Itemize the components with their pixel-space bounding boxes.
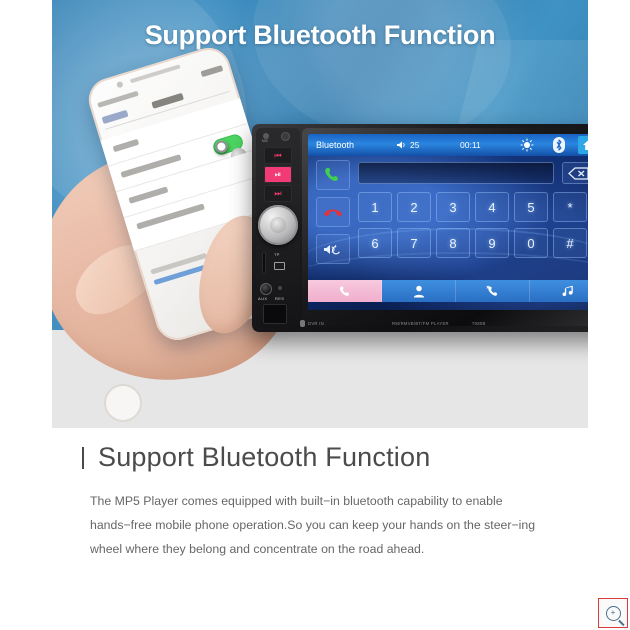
magnifier-zoom-in-icon: + (606, 606, 621, 621)
phone-battery-icon (200, 65, 223, 77)
model-label: 7080B (472, 321, 486, 326)
dialer-panel: 1 2 3 4 5 * 6 7 8 9 0 (308, 156, 588, 284)
backspace-icon (568, 167, 588, 180)
key-6[interactable]: 6 (358, 228, 392, 258)
tab-music[interactable] (530, 280, 588, 302)
aux-jack[interactable] (260, 283, 272, 295)
brightness-icon (520, 138, 534, 152)
res-label: RES (275, 296, 284, 301)
back-chevron-icon (102, 110, 129, 124)
music-note-icon (561, 285, 574, 298)
keypad-row: 6 7 8 9 0 # (358, 228, 588, 258)
keypad-row: 1 2 3 4 5 * (358, 192, 588, 222)
reset-pinhole[interactable] (278, 286, 282, 290)
play-pause-button[interactable]: ⏯ (264, 166, 292, 183)
home-button[interactable] (578, 136, 588, 154)
contacts-icon (413, 285, 425, 298)
bluetooth-status-button[interactable] (553, 137, 565, 153)
bottom-tab-bar (308, 280, 588, 302)
phone-icon (339, 285, 352, 298)
key-4[interactable]: 4 (475, 192, 509, 222)
key-9[interactable]: 9 (475, 228, 509, 258)
screen-bezel: Bluetooth 25 00:11 (302, 128, 588, 326)
volume-indicator[interactable]: 25 (396, 140, 419, 150)
key-3[interactable]: 3 (436, 192, 470, 222)
banner-title: Support Bluetooth Function (52, 20, 588, 51)
settings-row-label (128, 186, 168, 203)
zoom-in-button[interactable]: + (598, 598, 628, 628)
heading-row: Support Bluetooth Function (52, 442, 588, 473)
tab-call-log[interactable] (456, 280, 530, 302)
audio-transfer-button[interactable] (316, 234, 350, 264)
phone-number-input[interactable] (358, 162, 554, 184)
bluetooth-toggle[interactable] (211, 133, 244, 157)
audio-transfer-icon (322, 243, 344, 256)
key-7[interactable]: 7 (397, 228, 431, 258)
previous-track-button[interactable]: ⏮ (264, 147, 292, 164)
bluetooth-icon (555, 139, 563, 151)
heading-accent-bar (82, 447, 84, 469)
call-end-button[interactable] (316, 197, 350, 227)
tp-label: TP (274, 252, 280, 257)
volume-value: 25 (410, 140, 419, 150)
numeric-keypad: 1 2 3 4 5 * 6 7 8 9 0 (358, 192, 588, 264)
home-icon (582, 139, 589, 151)
key-star[interactable]: * (553, 192, 587, 222)
backspace-button[interactable] (562, 162, 588, 184)
dvr-in-label: DVR IN (308, 321, 324, 326)
phone-camera-icon (116, 81, 123, 88)
speaker-icon (396, 140, 407, 150)
volume-knob[interactable] (258, 205, 298, 245)
key-0[interactable]: 0 (514, 228, 548, 258)
call-control-column (316, 160, 350, 271)
transport-buttons: ⏮ ⏯ ⏭ (264, 147, 292, 204)
status-bar: Bluetooth 25 00:11 (308, 134, 588, 156)
tab-dialer[interactable] (308, 280, 382, 302)
call-end-icon (323, 205, 343, 219)
stereo-control-panel: MIC ⏮ ⏯ ⏭ TP AUX RES (256, 128, 300, 328)
status-source-label: Bluetooth (316, 140, 354, 150)
key-8[interactable]: 8 (436, 228, 470, 258)
slot-opening (262, 252, 266, 274)
jack-labels: AUX RES (258, 296, 284, 301)
key-5[interactable]: 5 (514, 192, 548, 222)
next-track-button[interactable]: ⏭ (264, 185, 292, 202)
car-stereo-device: MIC ⏮ ⏯ ⏭ TP AUX RES (252, 124, 588, 332)
zoom-plus-label: + (611, 609, 616, 617)
stereo-footer-labels: DVR IN RM/RMVB/BT/FM PLAYER 7080B (304, 318, 588, 330)
product-figure: Support Bluetooth Function (52, 0, 588, 428)
tp-control-group: TP (262, 252, 294, 274)
article-text-block: Support Bluetooth Function The MP5 Playe… (52, 442, 588, 561)
toggle-knob (214, 139, 229, 154)
sd-card-slot[interactable] (263, 304, 287, 324)
mic-label: MIC (262, 139, 268, 143)
phone-screen-title (151, 93, 184, 109)
touchscreen[interactable]: Bluetooth 25 00:11 (308, 134, 588, 310)
key-2[interactable]: 2 (397, 192, 431, 222)
key-1[interactable]: 1 (358, 192, 392, 222)
call-log-icon (486, 285, 500, 298)
settings-row-label (113, 139, 140, 152)
call-answer-icon (324, 166, 342, 184)
footer-mic-icon (300, 320, 305, 327)
format-label: RM/RMVB/BT/FM PLAYER (392, 321, 449, 326)
call-answer-button[interactable] (316, 160, 350, 190)
page-title: Support Bluetooth Function (98, 442, 430, 473)
key-hash[interactable]: # (553, 228, 587, 258)
tab-contacts[interactable] (382, 280, 456, 302)
article-paragraph: The MP5 Player comes equipped with built… (90, 489, 560, 561)
phone-home-button (104, 384, 142, 422)
aux-label: AUX (258, 296, 267, 301)
stereo-top-controls: MIC (261, 131, 295, 144)
reset-button[interactable] (281, 132, 290, 141)
display-button[interactable] (274, 262, 285, 270)
brightness-button[interactable] (520, 138, 534, 154)
clock-display: 00:11 (460, 140, 481, 150)
